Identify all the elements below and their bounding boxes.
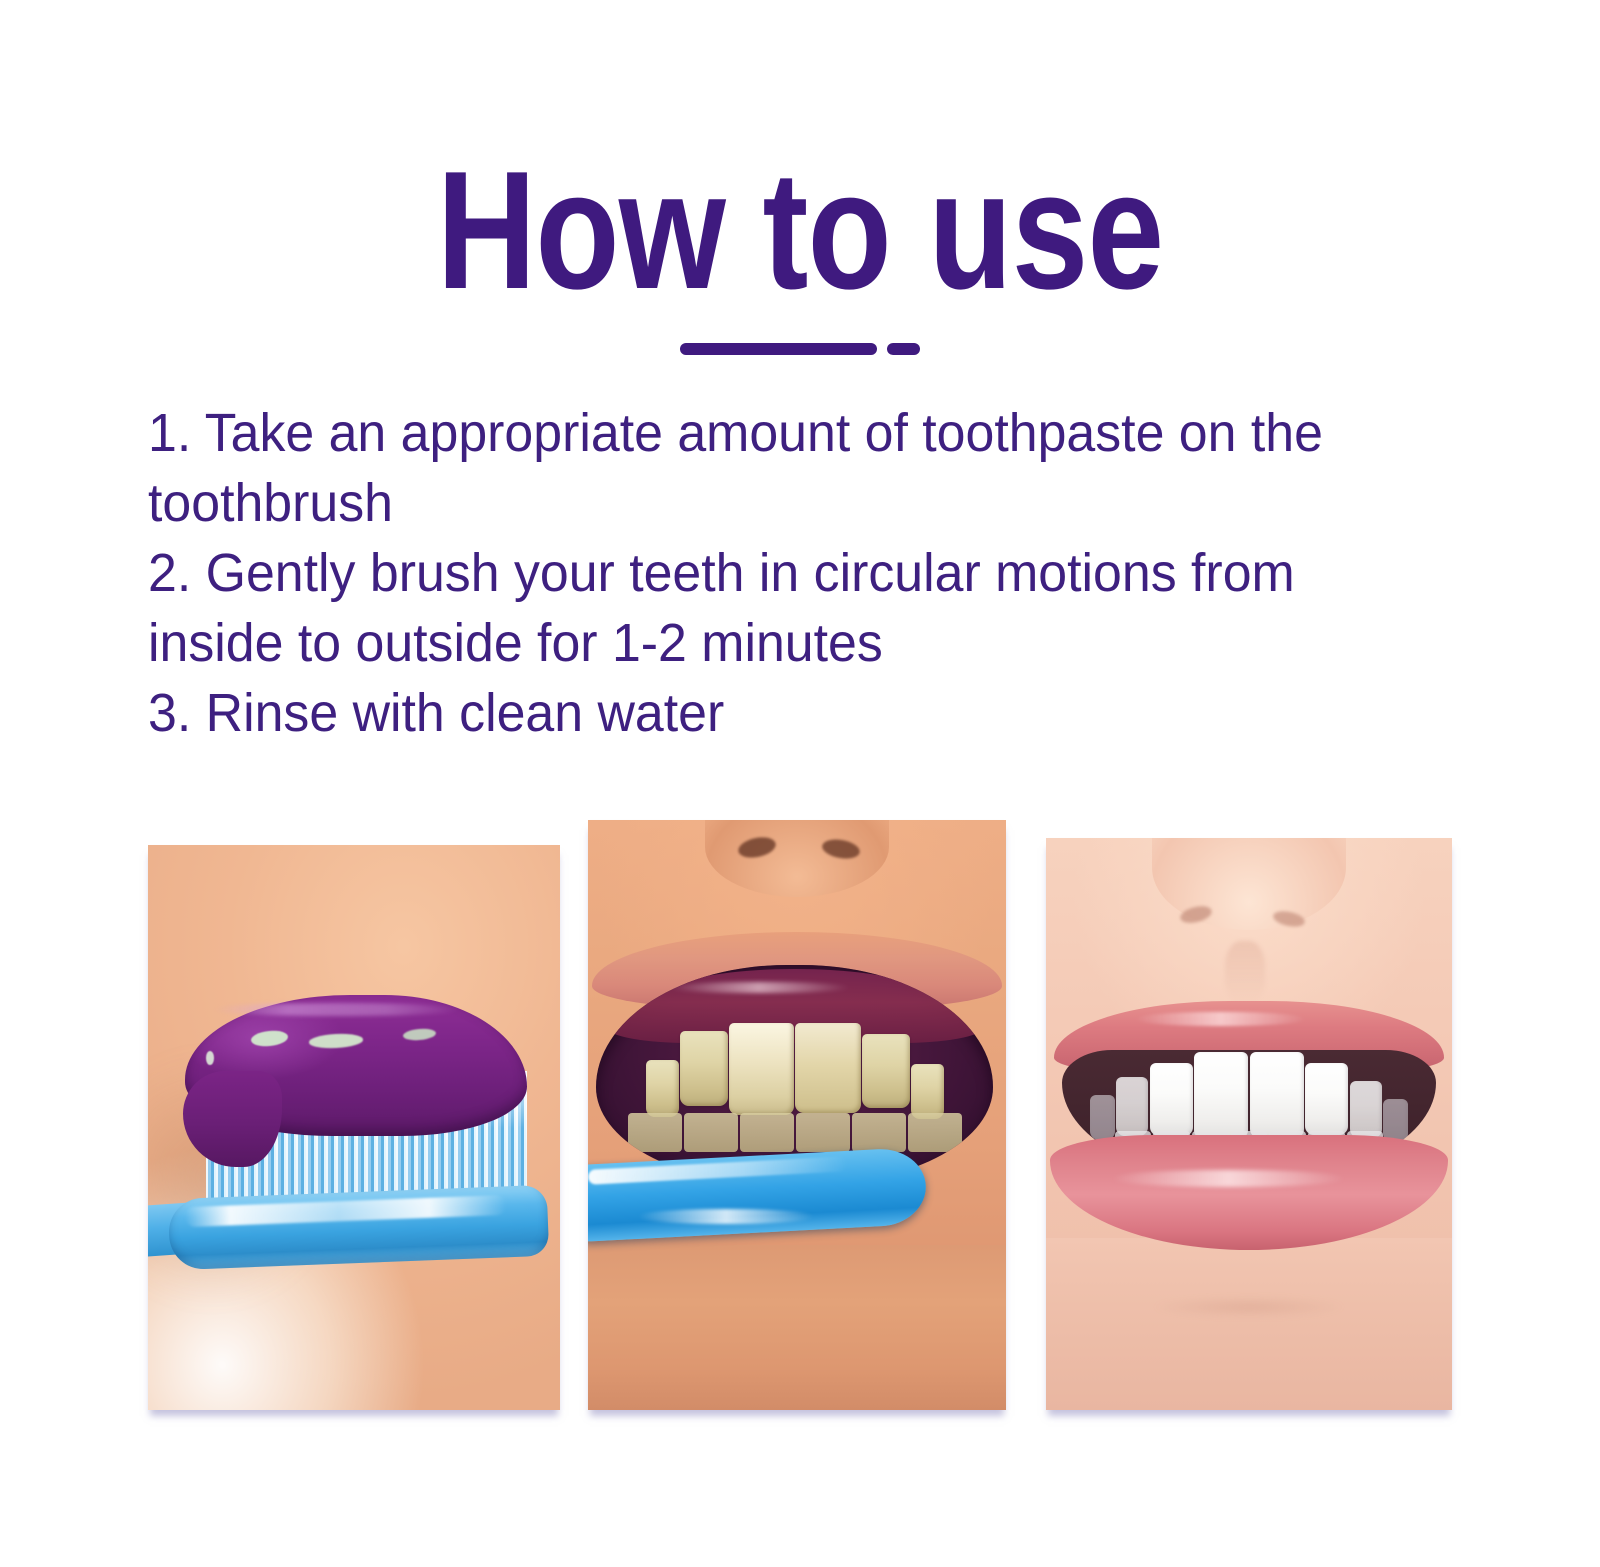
tooth xyxy=(646,1060,679,1117)
gum-highlight xyxy=(668,982,851,993)
step-2-photo xyxy=(588,820,1006,1410)
stained-upper-teeth xyxy=(612,1023,977,1115)
tooth xyxy=(908,1113,962,1152)
tooth xyxy=(852,1113,906,1152)
brushing-stained-teeth-image xyxy=(588,820,1006,1410)
chin-crease xyxy=(1152,1296,1347,1319)
tooth xyxy=(911,1064,944,1119)
tooth xyxy=(796,1113,850,1152)
image-gallery xyxy=(0,0,1600,1567)
tooth xyxy=(1090,1095,1115,1140)
stained-lower-teeth xyxy=(628,1113,962,1152)
step-1-photo xyxy=(148,845,560,1410)
tooth xyxy=(862,1034,909,1107)
lower-lip-highlight xyxy=(1111,1170,1346,1187)
chin xyxy=(588,1245,1006,1410)
toothbrush-with-paste-image xyxy=(148,845,560,1410)
open-mouth xyxy=(596,965,993,1183)
tooth xyxy=(1116,1077,1148,1136)
tooth xyxy=(1383,1099,1408,1142)
paste-top-sheen xyxy=(214,1003,461,1015)
tooth xyxy=(795,1023,861,1113)
tooth xyxy=(729,1023,795,1115)
tooth xyxy=(684,1113,738,1152)
tooth xyxy=(1350,1081,1382,1138)
white-upper-teeth xyxy=(1070,1052,1429,1139)
lower-lip-highlight xyxy=(638,1209,814,1223)
tooth xyxy=(1250,1052,1304,1138)
tooth xyxy=(1305,1063,1348,1135)
philtrum xyxy=(1225,941,1266,1004)
chin xyxy=(1046,1238,1452,1410)
tooth xyxy=(740,1113,794,1152)
tooth xyxy=(1194,1052,1248,1139)
tooth xyxy=(680,1031,727,1106)
paste-highlight-4 xyxy=(206,1051,214,1065)
white-smile-image xyxy=(1046,838,1452,1410)
tooth xyxy=(1150,1063,1193,1136)
tooth xyxy=(628,1113,682,1152)
step-3-photo xyxy=(1046,838,1452,1410)
